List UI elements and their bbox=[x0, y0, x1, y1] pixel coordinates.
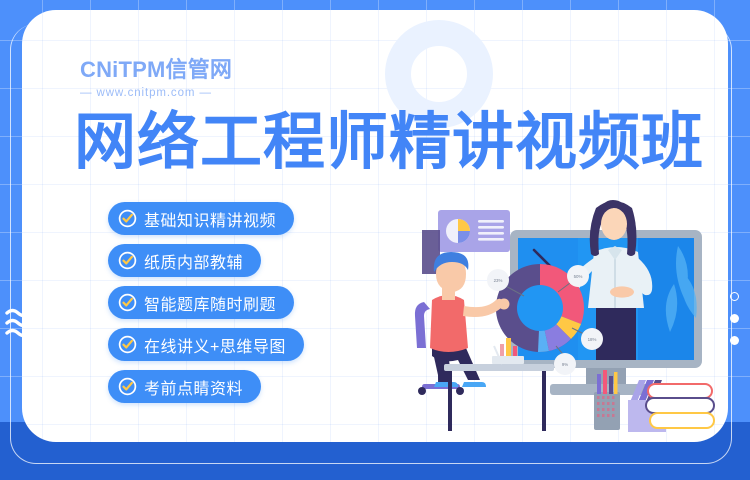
check-circle-icon bbox=[118, 335, 137, 354]
check-circle-icon bbox=[118, 209, 137, 228]
dot-filled-1 bbox=[730, 314, 739, 323]
promo-banner: CNiTPM信管网 — www.cnitpm.com — 网络工程师精讲视频班 … bbox=[0, 0, 750, 480]
dot-filled-2 bbox=[730, 336, 739, 345]
pen-holder bbox=[594, 370, 620, 430]
svg-text:23%: 23% bbox=[494, 278, 503, 283]
book-stack bbox=[646, 384, 714, 428]
check-circle-icon bbox=[118, 293, 137, 312]
dot-hollow bbox=[730, 292, 739, 301]
feature-pill[interactable]: 考前点睛资料 bbox=[108, 370, 261, 403]
feature-label: 纸质内部教辅 bbox=[144, 249, 243, 273]
feature-pill[interactable]: 在线讲义+思维导图 bbox=[108, 328, 304, 361]
page-title: 网络工程师精讲视频班 bbox=[74, 110, 704, 175]
feature-pill[interactable]: 智能题库随时刷题 bbox=[108, 286, 294, 319]
feature-label: 基础知识精讲视频 bbox=[144, 207, 276, 231]
check-circle-icon bbox=[118, 377, 137, 396]
brand-logo: CNiTPM信管网 — www.cnitpm.com — bbox=[80, 52, 232, 99]
dots-decoration bbox=[730, 292, 739, 345]
feature-label: 在线讲义+思维导图 bbox=[144, 333, 286, 357]
svg-text:18%: 18% bbox=[588, 337, 597, 342]
svg-text:9%: 9% bbox=[562, 362, 568, 367]
feature-list: 基础知识精讲视频 纸质内部教辅 智能题库随时 bbox=[108, 202, 304, 403]
white-card: CNiTPM信管网 — www.cnitpm.com — 网络工程师精讲视频班 … bbox=[22, 10, 728, 442]
check-circle-icon bbox=[118, 251, 137, 270]
feature-label: 考前点睛资料 bbox=[144, 375, 243, 399]
feature-pill[interactable]: 纸质内部教辅 bbox=[108, 244, 261, 277]
svg-text:50%: 50% bbox=[574, 274, 583, 279]
online-class-illustration: 23% 50% 18% 9% bbox=[382, 188, 728, 442]
feature-pill[interactable]: 基础知识精讲视频 bbox=[108, 202, 294, 235]
logo-url: — www.cnitpm.com — bbox=[80, 87, 232, 99]
feature-label: 智能题库随时刷题 bbox=[144, 291, 276, 315]
logo-text: CNiTPM信管网 bbox=[80, 52, 232, 84]
